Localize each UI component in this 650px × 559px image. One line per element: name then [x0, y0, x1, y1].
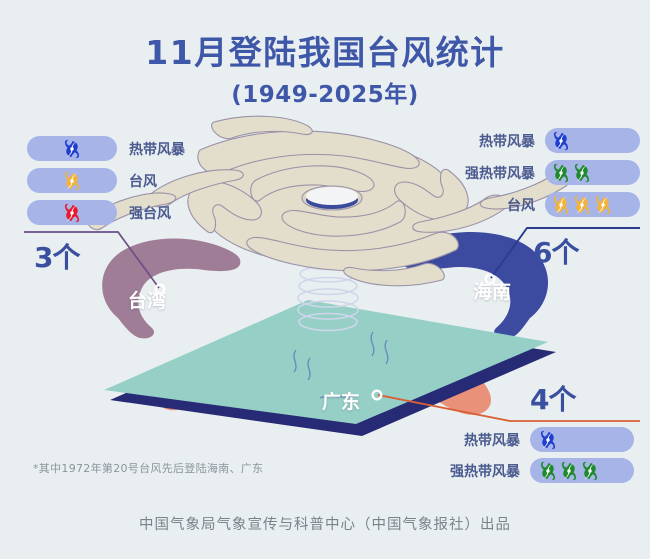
- typhoon-badge: [545, 160, 640, 185]
- typhoon-icon: [559, 461, 579, 481]
- legend-item-label: 热带风暴: [464, 430, 520, 450]
- legend-item: 强热带风暴: [450, 458, 634, 483]
- typhoon-icon: [538, 461, 558, 481]
- taiwan-legend: 热带风暴 台风 强台风: [27, 136, 185, 232]
- legend-item-label: 台风: [507, 195, 535, 215]
- guangdong-anchor-dot: [373, 391, 382, 400]
- hainan-legend: 热带风暴 强热带风暴 台风: [465, 128, 640, 224]
- legend-item-label: 强热带风暴: [465, 163, 535, 183]
- typhoon-icon: [551, 195, 571, 215]
- typhoon-badge: [530, 458, 634, 483]
- typhoon-funnel: [298, 243, 358, 331]
- legend-item: 台风: [465, 192, 640, 217]
- legend-item: 热带风暴: [465, 128, 640, 153]
- typhoon-badge: [545, 128, 640, 153]
- legend-item: 热带风暴: [450, 427, 634, 452]
- credit-line: 中国气象局气象宣传与科普中心（中国气象报社）出品: [0, 513, 650, 534]
- typhoon-icon: [551, 131, 571, 151]
- guangdong-connector-line: [378, 395, 640, 421]
- legend-item: 强热带风暴: [465, 160, 640, 185]
- guangdong-count: 4个: [530, 378, 575, 418]
- page-title: 11月登陆我国台风统计: [0, 26, 650, 74]
- legend-item: 台风: [27, 168, 185, 193]
- typhoon-icon: [62, 139, 82, 159]
- typhoon-badge: [27, 200, 117, 225]
- typhoon-icon: [580, 461, 600, 481]
- footnote: *其中1972年第20号台风先后登陆海南、广东: [33, 460, 263, 476]
- taiwan-region-band: [102, 239, 240, 339]
- typhoon-icon: [551, 163, 571, 183]
- region-label-taiwan: 台湾: [128, 286, 166, 313]
- infographic-canvas: 11月登陆我国台风统计 (1949-2025年) 热带风暴 台风 强台风 热带风…: [0, 0, 650, 559]
- taiwan-count: 3个: [34, 236, 79, 276]
- typhoon-icon: [572, 163, 592, 183]
- legend-item-label: 强热带风暴: [450, 461, 520, 481]
- typhoon-icon: [538, 430, 558, 450]
- page-subtitle: (1949-2025年): [0, 75, 650, 109]
- legend-item: 热带风暴: [27, 136, 185, 161]
- typhoon-icon: [62, 203, 82, 223]
- region-label-hainan: 海南: [473, 277, 511, 304]
- legend-item-label: 热带风暴: [129, 139, 185, 159]
- guangdong-legend: 热带风暴 强热带风暴: [450, 427, 634, 489]
- legend-item: 强台风: [27, 200, 185, 225]
- legend-item-label: 台风: [129, 171, 157, 191]
- typhoon-icon: [572, 195, 592, 215]
- typhoon-icon: [593, 195, 613, 215]
- typhoon-badge: [27, 136, 117, 161]
- legend-item-label: 强台风: [129, 203, 171, 223]
- typhoon-badge: [27, 168, 117, 193]
- typhoon-icon: [62, 171, 82, 191]
- region-label-guangdong: 广东: [322, 387, 360, 414]
- ocean-shadow: [110, 312, 556, 436]
- typhoon-badge: [530, 427, 634, 452]
- hainan-count: 6个: [533, 231, 578, 271]
- legend-item-label: 热带风暴: [479, 131, 535, 151]
- typhoon-badge: [545, 192, 640, 217]
